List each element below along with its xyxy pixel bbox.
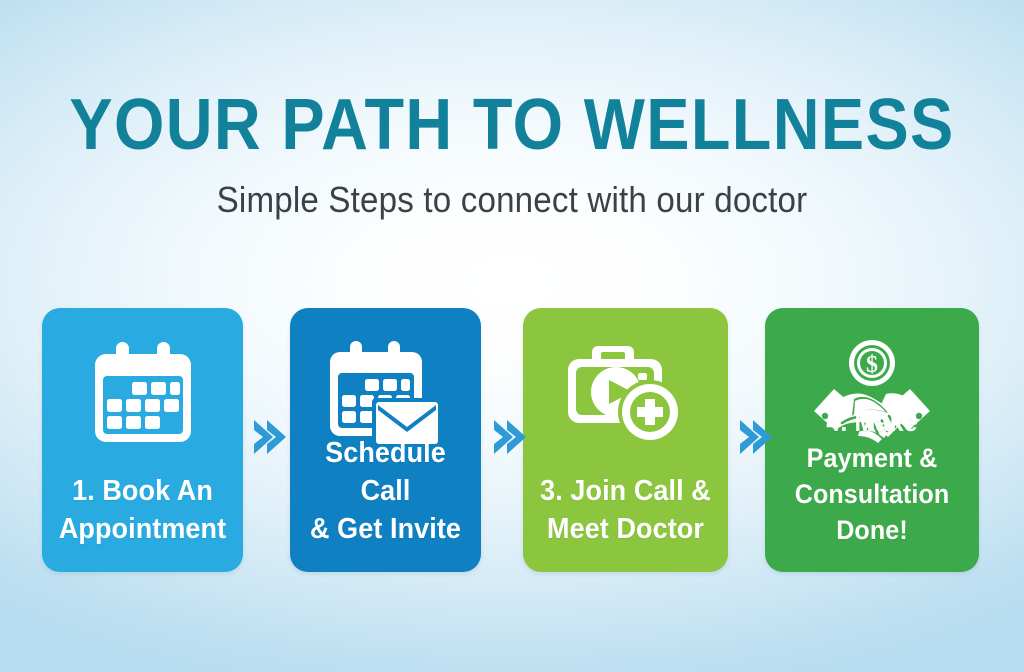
video-call-add-icon <box>523 330 728 460</box>
page-subtitle: Simple Steps to connect with our doctor <box>41 180 983 220</box>
chevron-right-icon-1 <box>252 418 286 456</box>
chevron-right-icon-3 <box>738 418 772 456</box>
page-title: YOUR PATH TO WELLNESS <box>51 88 973 162</box>
chevron-right-icon-2 <box>492 418 526 456</box>
step-card-3-label: 3. Join Call & Meet Doctor <box>530 472 721 548</box>
step-card-2[interactable]: Schedule Call & Get Invite <box>290 308 481 572</box>
svg-text:$: $ <box>866 352 878 378</box>
infographic-canvas: YOUR PATH TO WELLNESS Simple Steps to co… <box>0 0 1024 672</box>
step-card-4[interactable]: $ <box>765 308 979 572</box>
step-card-2-label: Schedule Call & Get Invite <box>297 434 475 548</box>
header: YOUR PATH TO WELLNESS Simple Steps to co… <box>0 88 1024 220</box>
step-card-4-label: 4. Make Payment & Consultation Done! <box>772 404 971 548</box>
calendar-icon <box>42 330 243 460</box>
step-card-3: 3. Join Call & Meet Doctor <box>523 308 728 572</box>
step-card-1[interactable]: 1. Book An Appointment <box>42 308 243 572</box>
step-card-1-label: 1. Book An Appointment <box>49 472 236 548</box>
